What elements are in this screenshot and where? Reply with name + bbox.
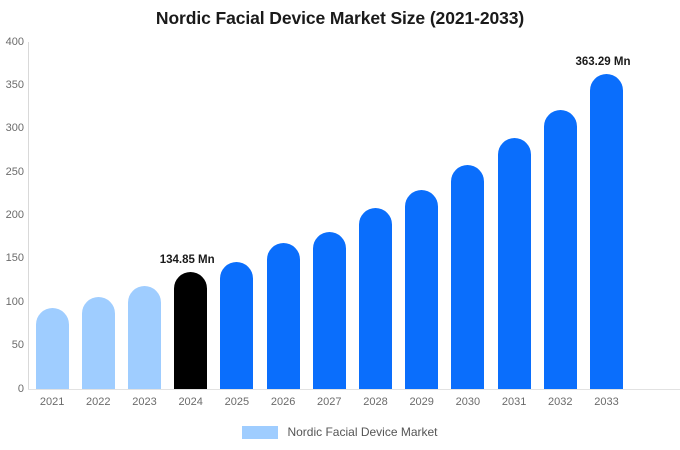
bar-2025[interactable] — [220, 262, 253, 389]
x-axis-tick-2032: 2032 — [537, 396, 583, 409]
legend-label-nordic-facial-device-market: Nordic Facial Device Market — [287, 425, 437, 439]
x-axis-tick-2029: 2029 — [399, 396, 445, 409]
x-axis-tick-2026: 2026 — [260, 396, 306, 409]
bar-2032[interactable] — [544, 110, 577, 389]
x-axis-tick-2027: 2027 — [306, 396, 352, 409]
bar-2030[interactable] — [451, 165, 484, 389]
x-axis-tick-2023: 2023 — [122, 396, 168, 409]
x-axis-tick-2031: 2031 — [491, 396, 537, 409]
bar-2033[interactable] — [590, 74, 623, 389]
bar-2026[interactable] — [267, 243, 300, 389]
bar-2029[interactable] — [405, 190, 438, 389]
bar-2028[interactable] — [359, 208, 392, 389]
value-label-2033: 363.29 Mn — [576, 56, 631, 69]
bar-2031[interactable] — [498, 138, 531, 389]
x-axis-tick-2030: 2030 — [445, 396, 491, 409]
legend-swatch-nordic-facial-device-market — [242, 426, 278, 439]
x-axis-tick-2022: 2022 — [75, 396, 121, 409]
x-axis-tick-2021: 2021 — [29, 396, 75, 409]
value-label-2024: 134.85 Mn — [160, 254, 215, 267]
x-axis-tick-2025: 2025 — [214, 396, 260, 409]
x-axis-tick-2033: 2033 — [584, 396, 630, 409]
x-axis-tick-2028: 2028 — [353, 396, 399, 409]
x-axis-tick-2024: 2024 — [168, 396, 214, 409]
bar-2021[interactable] — [36, 308, 69, 389]
bars-layer: 2021202220232024134.85 Mn202520262027202… — [0, 0, 680, 450]
bar-2022[interactable] — [82, 297, 115, 389]
bar-2024[interactable] — [174, 272, 207, 389]
chart-legend: Nordic Facial Device Market — [0, 425, 680, 439]
chart-container: Nordic Facial Device Market Size (2021-2… — [0, 0, 680, 450]
bar-2027[interactable] — [313, 232, 346, 389]
bar-2023[interactable] — [128, 286, 161, 389]
